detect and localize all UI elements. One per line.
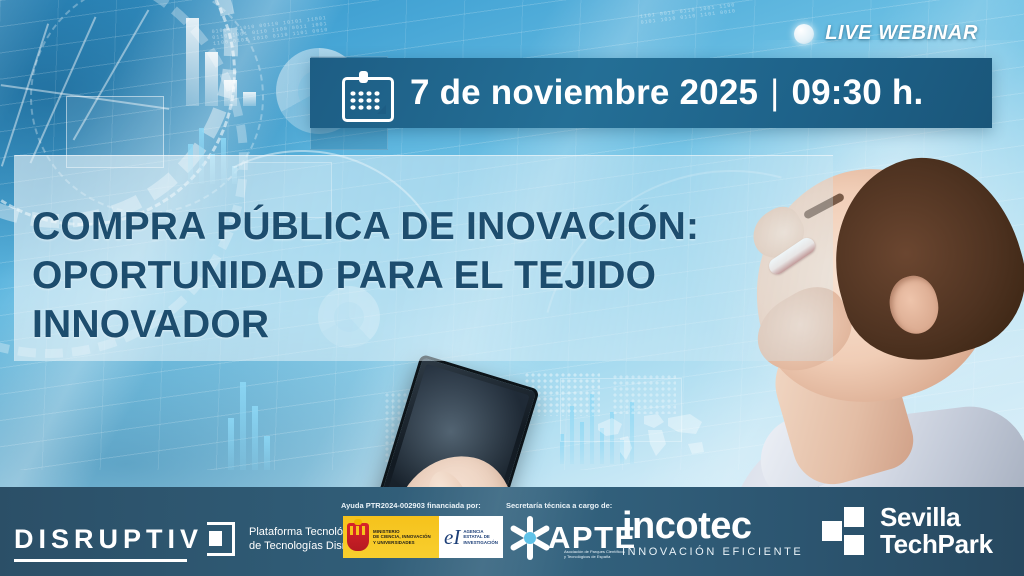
title-line-3: INNOVADOR xyxy=(32,300,792,349)
spain-coat-of-arms-icon xyxy=(347,523,369,551)
logo-apte: APTE Asociación de Parques Científicos y… xyxy=(508,516,637,560)
live-webinar-label: LIVE WEBINAR xyxy=(825,22,978,45)
aei-line-1: AGENCIA xyxy=(463,529,483,534)
hud-spoke xyxy=(1,84,170,110)
background-dot-matrix xyxy=(612,374,676,414)
hud-spoke xyxy=(30,17,97,164)
incotec-tagline: INNOVACIÓN EFICIENTE xyxy=(622,546,803,558)
logo-incotec: incotec INNOVACIÓN EFICIENTE xyxy=(622,507,803,558)
aei-mark: eI xyxy=(444,527,460,548)
ministry-logo: MINISTERIO DE CIENCIA, INNOVACIÓN Y UNIV… xyxy=(343,516,439,558)
apte-subtitle-line-2: y Tecnológicos de España xyxy=(564,554,610,559)
aei-line-3: INVESTIGACIÓN xyxy=(463,540,498,545)
sevilla-techpark-wordmark: Sevilla TechPark xyxy=(880,504,993,558)
live-dot-icon xyxy=(794,24,814,44)
disruptive-wordmark: DISRUPTIV xyxy=(14,524,203,555)
ministry-line-1: MINISTERIO xyxy=(373,529,400,534)
aei-text: AGENCIA ESTATAL DE INVESTIGACIÓN xyxy=(463,529,498,545)
aei-line-2: ESTATAL DE xyxy=(463,534,490,539)
ear xyxy=(884,271,945,339)
ministry-line-2: DE CIENCIA, INNOVACIÓN xyxy=(373,534,431,539)
background-dot-matrix xyxy=(524,372,600,416)
live-webinar-badge: LIVE WEBINAR xyxy=(794,22,978,45)
background-bar-chart xyxy=(560,392,634,464)
sevilla-techpark-line-1: Sevilla xyxy=(880,502,960,532)
page-title: COMPRA PÚBLICA DE INOVACIÓN: OPORTUNIDAD… xyxy=(32,202,792,349)
title-line-2: OPORTUNIDAD PARA EL TEJIDO xyxy=(32,251,792,300)
incotec-wordmark: incotec xyxy=(622,507,752,545)
background-dot-matrix xyxy=(384,392,418,462)
funding-caption: Ayuda PTR2024-002903 financiada por: xyxy=(341,501,481,510)
logo-sevilla-techpark: Sevilla TechPark xyxy=(822,504,993,558)
ministry-line-3: Y UNIVERSIDADES xyxy=(373,540,415,545)
event-time: 09:30 h. xyxy=(791,73,923,112)
hud-spoke xyxy=(1,23,49,166)
hair xyxy=(810,136,1024,379)
date-time-text: 7 de noviembre 2025|09:30 h. xyxy=(410,73,923,113)
secretariat-caption: Secretaría técnica a cargo de: xyxy=(506,501,612,510)
logo-ministry-aei: MINISTERIO DE CIENCIA, INNOVACIÓN Y UNIV… xyxy=(343,516,503,558)
background-bar-chart xyxy=(228,380,270,470)
event-date: 7 de noviembre 2025 xyxy=(410,73,758,112)
background-bar-chart xyxy=(186,14,256,106)
title-line-1: COMPRA PÚBLICA DE INOVACIÓN: xyxy=(32,202,792,251)
calendar-icon xyxy=(342,71,388,116)
sevilla-techpark-mark-icon xyxy=(822,507,866,555)
background-world-map xyxy=(592,404,712,466)
date-banner: 7 de noviembre 2025|09:30 h. xyxy=(310,58,992,128)
hud-spoke xyxy=(73,10,150,141)
background-panel xyxy=(560,378,682,442)
apte-subtitle: Asociación de Parques Científicos y Tecn… xyxy=(564,549,625,559)
aei-logo: eI AGENCIA ESTATAL DE INVESTIGACIÓN xyxy=(439,516,503,558)
disruptive-bracket-icon xyxy=(207,522,235,556)
date-separator: | xyxy=(770,73,779,113)
apte-star-icon xyxy=(508,516,552,560)
sevilla-techpark-line-2: TechPark xyxy=(880,529,993,559)
footer-logo-bar: DISRUPTIV Plataforma Tecnológica Español… xyxy=(0,487,1024,576)
ministry-text: MINISTERIO DE CIENCIA, INNOVACIÓN Y UNIV… xyxy=(373,529,431,545)
webinar-poster: 01001 11010 00110 10101 11001 0110 1001 … xyxy=(0,0,1024,576)
